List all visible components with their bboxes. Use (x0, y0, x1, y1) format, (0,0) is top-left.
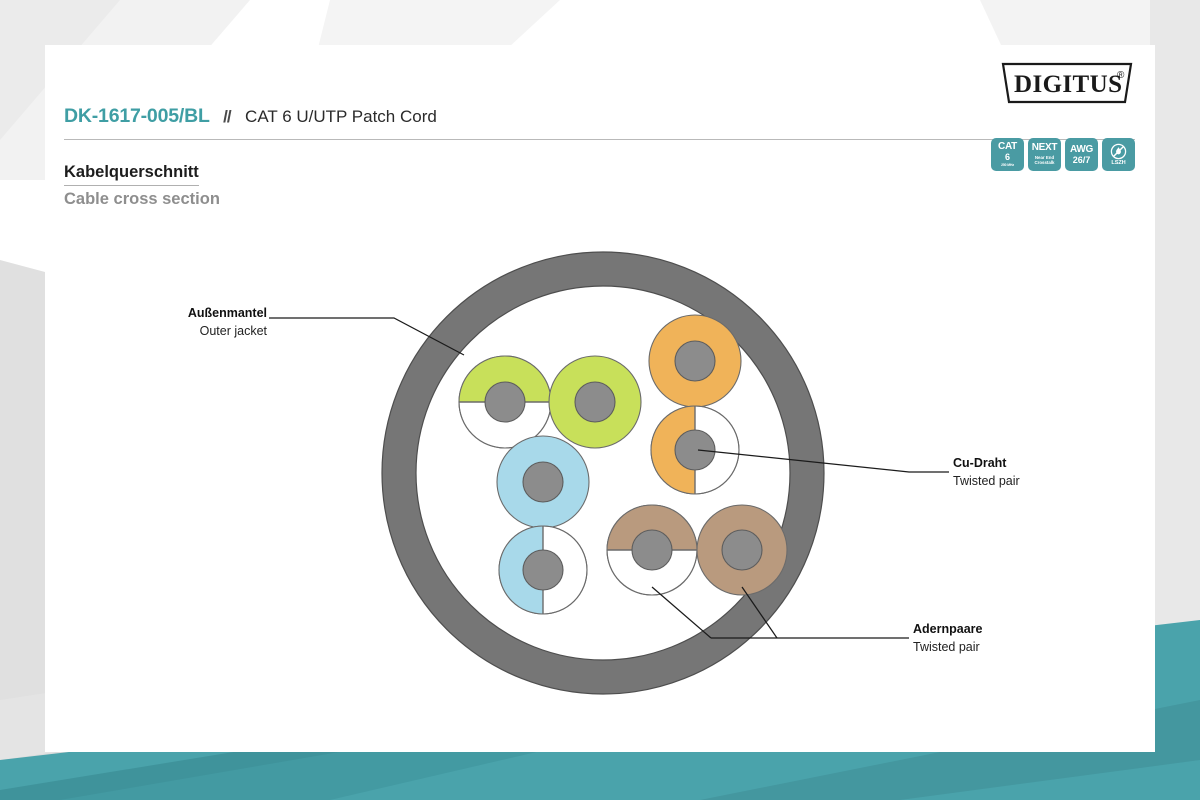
product-name: CAT 6 U/UTP Patch Cord (245, 107, 437, 126)
badge-cat6-line2: 6 (1005, 153, 1010, 162)
wire-green-solid (549, 356, 641, 448)
pair-blue (497, 436, 589, 616)
cu-core (485, 382, 525, 422)
wire-orange-striped (649, 404, 739, 496)
badge-next-sub: Near End Crosstalk (1028, 155, 1061, 166)
headline: DK-1617-005/BL // CAT 6 U/UTP Patch Cord (64, 105, 1135, 140)
logo-trademark-icon: ® (1117, 70, 1125, 81)
headline-separator: // (223, 107, 230, 126)
cu-core (675, 341, 715, 381)
digitus-logo: DIGITUS ® (997, 58, 1137, 108)
cu-core (523, 462, 563, 502)
badge-next-line1: NEXT (1032, 143, 1057, 153)
callout-twisted-pair-de: Adernpaare (913, 622, 983, 636)
content-card: DIGITUS ® DK-1617-005/BL // CAT 6 U/UTP … (45, 45, 1155, 752)
callout-outer-jacket-en: Outer jacket (200, 324, 268, 338)
no-flame-icon (1110, 143, 1127, 160)
badge-lszh[interactable]: LSZH (1102, 138, 1135, 171)
badge-awg-line2: 26/7 (1073, 156, 1091, 165)
leader-twisted-pair-branch-1 (652, 587, 711, 638)
section-title-de: Kabelquerschnitt (64, 163, 199, 186)
badge-lszh-label: LSZH (1111, 161, 1125, 167)
cable-cross-section-diagram: Außenmantel Outer jacket Cu-Draht Twiste… (64, 195, 1135, 695)
product-sku: DK-1617-005/BL (64, 105, 210, 127)
logo-text: DIGITUS (1014, 71, 1122, 98)
wire-orange-solid (649, 315, 741, 407)
badge-awg-line1: AWG (1070, 145, 1093, 155)
badge-cat6-line1: CAT (998, 142, 1017, 152)
cu-core (575, 382, 615, 422)
cu-core (632, 530, 672, 570)
pair-orange (649, 315, 741, 496)
slide-canvas: DIGITUS ® DK-1617-005/BL // CAT 6 U/UTP … (0, 0, 1200, 800)
cu-core (523, 550, 563, 590)
callout-outer-jacket-de: Außenmantel (188, 306, 267, 320)
pair-green (457, 354, 641, 448)
badge-cat6[interactable]: CAT 6 250 MHz (991, 138, 1024, 171)
cu-core (675, 430, 715, 470)
badge-awg[interactable]: AWG 26/7 (1065, 138, 1098, 171)
cu-core (722, 530, 762, 570)
wire-brown-striped (605, 503, 699, 595)
pair-brown (605, 503, 787, 595)
callout-cu-wire: Cu-Draht Twisted pair (698, 450, 1020, 488)
callout-twisted-pair-en: Twisted pair (913, 640, 980, 654)
outer-jacket-ring (399, 269, 807, 677)
wire-blue-striped (497, 524, 587, 616)
spec-badge-group: CAT 6 250 MHz NEXT Near End Crosstalk AW… (991, 138, 1135, 171)
badge-cat6-line3: 250 MHz (1001, 164, 1014, 167)
wire-blue-solid (497, 436, 589, 528)
wire-brown-solid (697, 505, 787, 595)
callout-cu-wire-en: Twisted pair (953, 474, 1020, 488)
badge-next[interactable]: NEXT Near End Crosstalk (1028, 138, 1061, 171)
callout-cu-wire-de: Cu-Draht (953, 456, 1007, 470)
bg-shape-right-grey (1150, 0, 1200, 700)
wire-green-striped (457, 354, 553, 448)
